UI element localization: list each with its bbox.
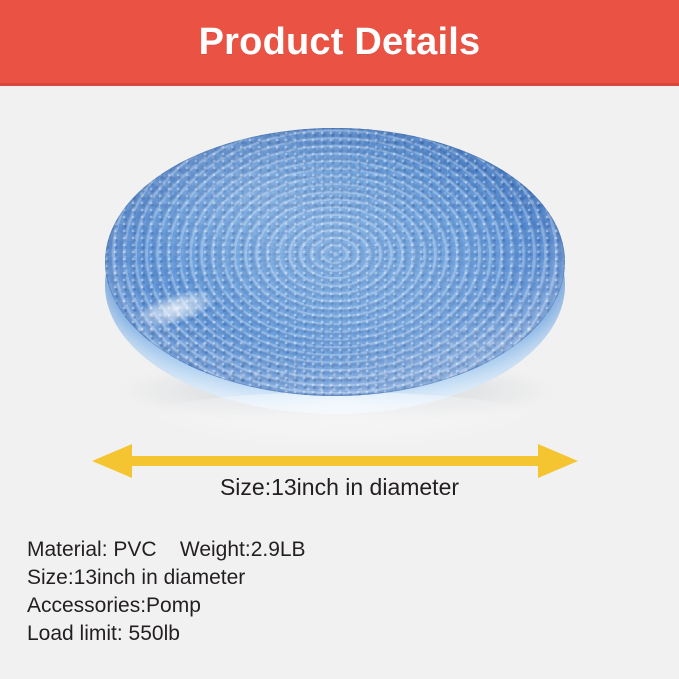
page-header-banner: Product Details bbox=[0, 0, 679, 86]
spec-line-material: Material: PVC Weight:2.9LB bbox=[27, 536, 627, 564]
spec-line-accessories: Accessories:Pomp bbox=[27, 592, 627, 620]
dimension-caption: Size:13inch in diameter bbox=[0, 474, 679, 502]
spec-line-size: Size:13inch in diameter bbox=[27, 564, 627, 592]
spec-line-load-limit: Load limit: 550lb bbox=[27, 620, 627, 648]
disc-top-surface bbox=[105, 128, 565, 396]
balance-disc-illustration bbox=[100, 122, 570, 422]
double-arrow-icon bbox=[92, 444, 578, 478]
disc-crown-nubs bbox=[105, 128, 565, 208]
product-image bbox=[0, 92, 679, 437]
page-title: Product Details bbox=[199, 23, 481, 61]
arrow-shaft bbox=[126, 456, 544, 466]
spec-list: Material: PVC Weight:2.9LB Size:13inch i… bbox=[27, 536, 627, 648]
product-details-page: Product Details bbox=[0, 0, 679, 679]
dimension-annotation: Size:13inch in diameter bbox=[0, 440, 679, 504]
